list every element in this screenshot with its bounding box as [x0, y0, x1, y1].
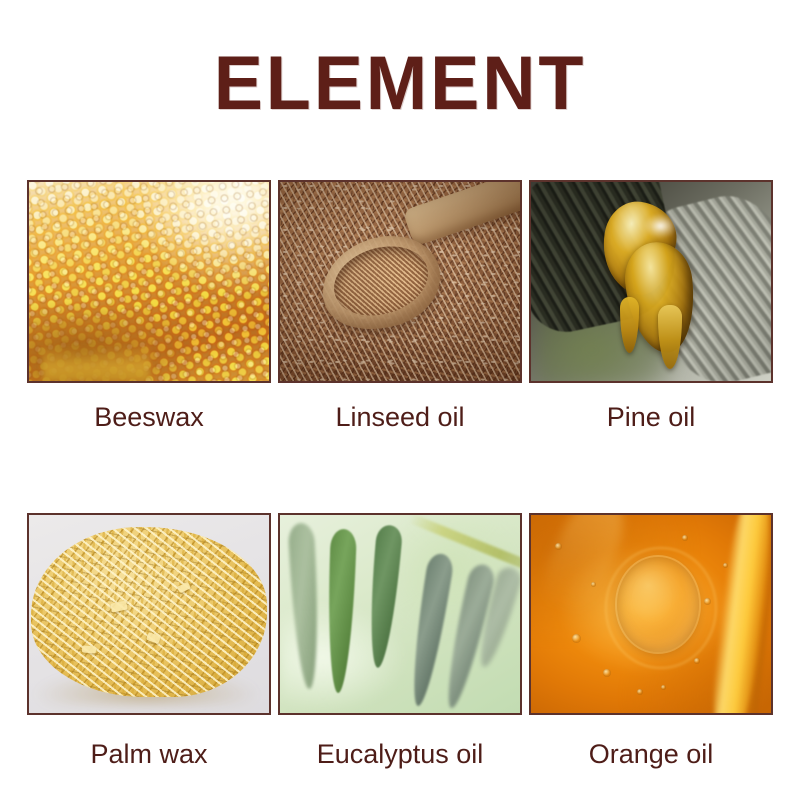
beeswax-drip [43, 345, 149, 381]
ingredient-image-pine-oil [529, 180, 773, 383]
linseed-photo [280, 182, 520, 381]
ingredient-cell-orange-oil: Orange oil [529, 513, 773, 770]
linseed-vignette [280, 182, 520, 381]
ingredient-row: Palm wax Eucalyptus oil [27, 513, 773, 770]
ingredient-image-eucalyptus-oil [278, 513, 522, 715]
ingredient-label-pine-oil: Pine oil [529, 401, 773, 433]
orange-oil-bubble [704, 598, 711, 605]
orange-oil-photo [531, 515, 771, 713]
orange-oil-bubble [637, 689, 643, 695]
orange-oil-bubble [694, 658, 700, 664]
ingredient-label-eucalyptus-oil: Eucalyptus oil [278, 738, 522, 770]
element-ingredients-poster: ELEMENT Beeswax [0, 0, 800, 800]
ingredient-label-palm-wax: Palm wax [27, 738, 271, 770]
palm-wax-photo [29, 515, 269, 713]
palm-wax-flakes-texture [31, 527, 266, 697]
page-title: ELEMENT [12, 44, 788, 124]
ingredient-cell-eucalyptus-oil: Eucalyptus oil [278, 513, 522, 770]
beeswax-photo [29, 182, 269, 381]
ingredient-row: Beeswax Linseed oil [27, 180, 773, 433]
palm-wax-chip [81, 645, 96, 653]
ingredient-label-beeswax: Beeswax [27, 401, 271, 433]
ingredient-cell-beeswax: Beeswax [27, 180, 271, 433]
orange-oil-large-bubble [617, 557, 699, 652]
orange-oil-bubble [572, 634, 581, 643]
eucalyptus-photo [280, 515, 520, 713]
ingredient-label-orange-oil: Orange oil [529, 738, 773, 770]
ingredient-label-linseed-oil: Linseed oil [278, 401, 522, 433]
pine-resin-photo [531, 182, 771, 381]
ingredient-image-linseed-oil [278, 180, 522, 383]
ingredient-image-orange-oil [529, 513, 773, 715]
ingredient-image-beeswax [27, 180, 271, 383]
orange-oil-bubble [682, 535, 688, 541]
pine-resin-specular-highlight [644, 214, 678, 238]
orange-oil-bubble [723, 563, 728, 568]
ingredient-grid: Beeswax Linseed oil [27, 180, 773, 770]
orange-oil-bubble [661, 685, 666, 690]
ingredient-image-palm-wax [27, 513, 271, 715]
orange-oil-bubble [555, 543, 562, 550]
ingredient-cell-pine-oil: Pine oil [529, 180, 773, 433]
ingredient-cell-linseed-oil: Linseed oil [278, 180, 522, 433]
ingredient-cell-palm-wax: Palm wax [27, 513, 271, 770]
